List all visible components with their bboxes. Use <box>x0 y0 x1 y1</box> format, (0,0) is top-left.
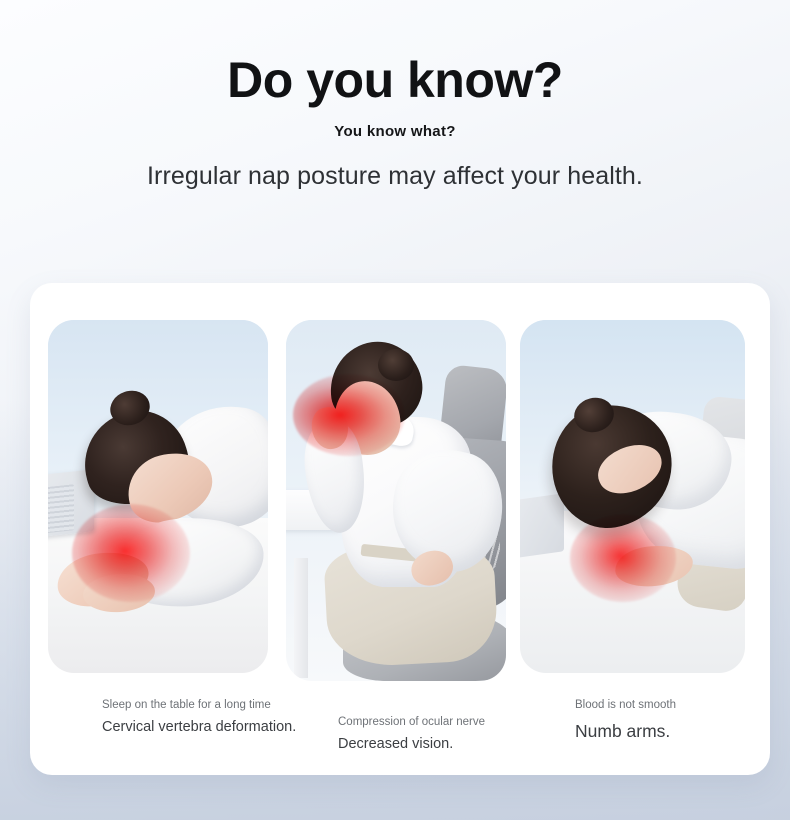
scene-nap-on-desk <box>48 320 268 673</box>
caption-cause-text: Compression of ocular nerve <box>338 715 548 729</box>
caption-cause-text: Sleep on the table for a long time <box>102 698 312 712</box>
scene-arm-numbness <box>520 320 745 673</box>
pain-glow-icon <box>293 374 405 456</box>
infographic-page: Do you know? You know what? Irregular na… <box>0 0 790 820</box>
photo-panel-nap-on-desk <box>48 320 268 673</box>
pain-glow-icon <box>570 514 676 602</box>
caption-cause-text: Blood is not smooth <box>575 698 785 712</box>
desk-leg-shape <box>294 558 308 678</box>
caption-effect-text: Cervical vertebra deformation. <box>102 719 312 737</box>
header-block: Do you know? You know what? Irregular na… <box>0 0 790 191</box>
panel-row: Sleep on the table for a long time Cervi… <box>30 283 770 775</box>
caption-effect-text: Numb arms. <box>575 721 785 742</box>
content-card: Sleep on the table for a long time Cervi… <box>30 283 770 775</box>
scene-seated-headache <box>286 320 506 681</box>
caption-arm-numbness: Blood is not smooth Numb arms. <box>575 698 785 743</box>
pain-glow-icon <box>72 504 190 602</box>
photo-panel-seated-headache <box>286 320 506 681</box>
laptop-icon <box>520 493 564 559</box>
photo-panel-arm-numbness <box>520 320 745 673</box>
caption-seated-headache: Compression of ocular nerve Decreased vi… <box>338 715 548 754</box>
laptop-keyboard-icon <box>48 484 74 534</box>
page-lede: Irregular nap posture may affect your he… <box>0 140 790 191</box>
page-subtitle: You know what? <box>0 107 790 140</box>
caption-nap-on-desk: Sleep on the table for a long time Cervi… <box>102 698 312 737</box>
caption-effect-text: Decreased vision. <box>338 736 548 754</box>
page-title: Do you know? <box>0 0 790 107</box>
hair-bun-shape <box>378 349 414 381</box>
